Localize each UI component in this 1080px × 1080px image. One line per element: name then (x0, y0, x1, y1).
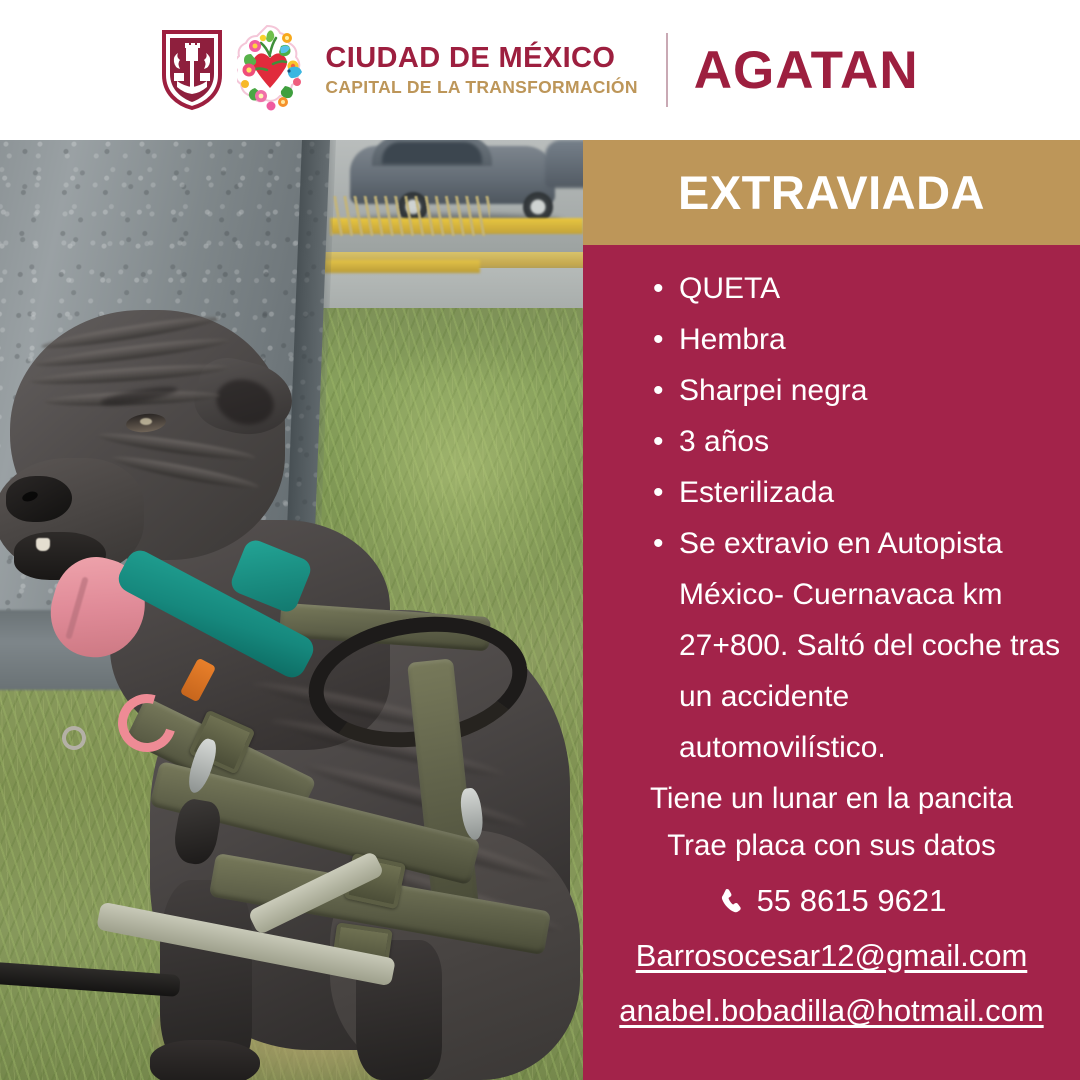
cdmx-subtitle: CAPITAL DE LA TRANSFORMACIÓN (325, 77, 637, 97)
cdmx-brand-lockup: CIUDAD DE MÉXICO CAPITAL DE LA TRANSFORM… (161, 24, 637, 116)
extra-note-tag: Trae placa con sus datos (601, 824, 1062, 867)
poster-header: CIUDAD DE MÉXICO CAPITAL DE LA TRANSFORM… (0, 0, 1080, 140)
photo-dog-eye-highlight (140, 418, 152, 425)
pet-details-list: QUETA Hembra Sharpei negra 3 años Esteri… (653, 263, 1062, 773)
photo-dog-tooth (36, 538, 50, 551)
contact-phone-row[interactable]: 55 8615 9621 (601, 885, 1062, 916)
list-item: Hembra (653, 314, 1062, 365)
cdmx-title: CIUDAD DE MÉXICO (325, 43, 637, 73)
info-panel-body: QUETA Hembra Sharpei negra 3 años Esteri… (583, 245, 1080, 1080)
list-item: 3 años (653, 416, 1062, 467)
phone-number: 55 8615 9621 (757, 885, 947, 916)
photo-parked-car-window (382, 142, 482, 164)
phone-icon (717, 886, 747, 916)
status-badge: EXTRAVIADA (678, 169, 985, 216)
agatan-wordmark: AGATAN (694, 44, 919, 97)
info-panel: EXTRAVIADA QUETA Hembra Sharpei negra 3 … (583, 140, 1080, 1080)
contact-email-primary[interactable]: Barrosocesar12@gmail.com (601, 940, 1062, 971)
list-item: Sharpei negra (653, 365, 1062, 416)
status-banner: EXTRAVIADA (583, 140, 1080, 245)
contact-email-secondary[interactable]: anabel.bobadilla@hotmail.com (601, 995, 1062, 1026)
list-item: Se extravio en Autopista México- Cuernav… (653, 518, 1062, 773)
dog-photo (0, 140, 583, 1080)
photo-dry-weeds (330, 196, 490, 236)
cdmx-wordmark: CIUDAD DE MÉXICO CAPITAL DE LA TRANSFORM… (325, 43, 637, 97)
header-divider (666, 33, 668, 107)
photo-second-car (545, 140, 583, 188)
lost-pet-poster: CIUDAD DE MÉXICO CAPITAL DE LA TRANSFORM… (0, 0, 1080, 1080)
list-item: QUETA (653, 263, 1062, 314)
cdmx-shield-icon (161, 29, 223, 111)
list-item: Esterilizada (653, 467, 1062, 518)
cdmx-floral-heart-icon (237, 24, 305, 116)
photo-dog-paw (150, 1040, 260, 1080)
extra-note-mole: Tiene un lunar en la pancita (601, 777, 1062, 820)
